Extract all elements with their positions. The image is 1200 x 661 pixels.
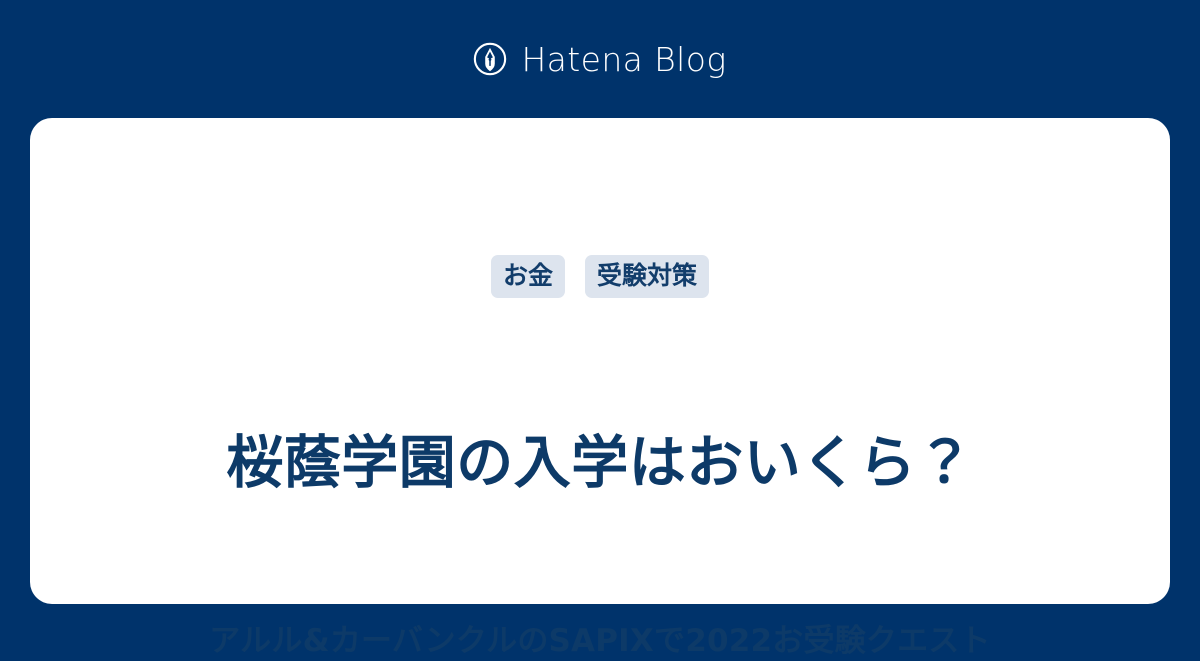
category-tag-exam-prep[interactable]: 受験対策 <box>585 255 709 298</box>
ogp-card-root: Hatena Blog お金 受験対策 桜蔭学園の入学はおいくら？ アルル&カー… <box>0 0 1200 630</box>
entry-title: 桜蔭学園の入学はおいくら？ <box>30 429 1170 499</box>
category-tag-money[interactable]: お金 <box>491 255 565 298</box>
entry-card: お金 受験対策 桜蔭学園の入学はおいくら？ アルル&カーバンクルのSAPIXで2… <box>30 118 1170 604</box>
hatena-pen-nib-icon <box>473 42 507 76</box>
brand-header: Hatena Blog <box>0 0 1200 118</box>
brand-name: Hatena Blog <box>521 43 726 76</box>
category-list: お金 受験対策 <box>30 255 1170 298</box>
blog-title: アルル&カーバンクルのSAPIXで2022お受験クエスト <box>30 622 1170 661</box>
